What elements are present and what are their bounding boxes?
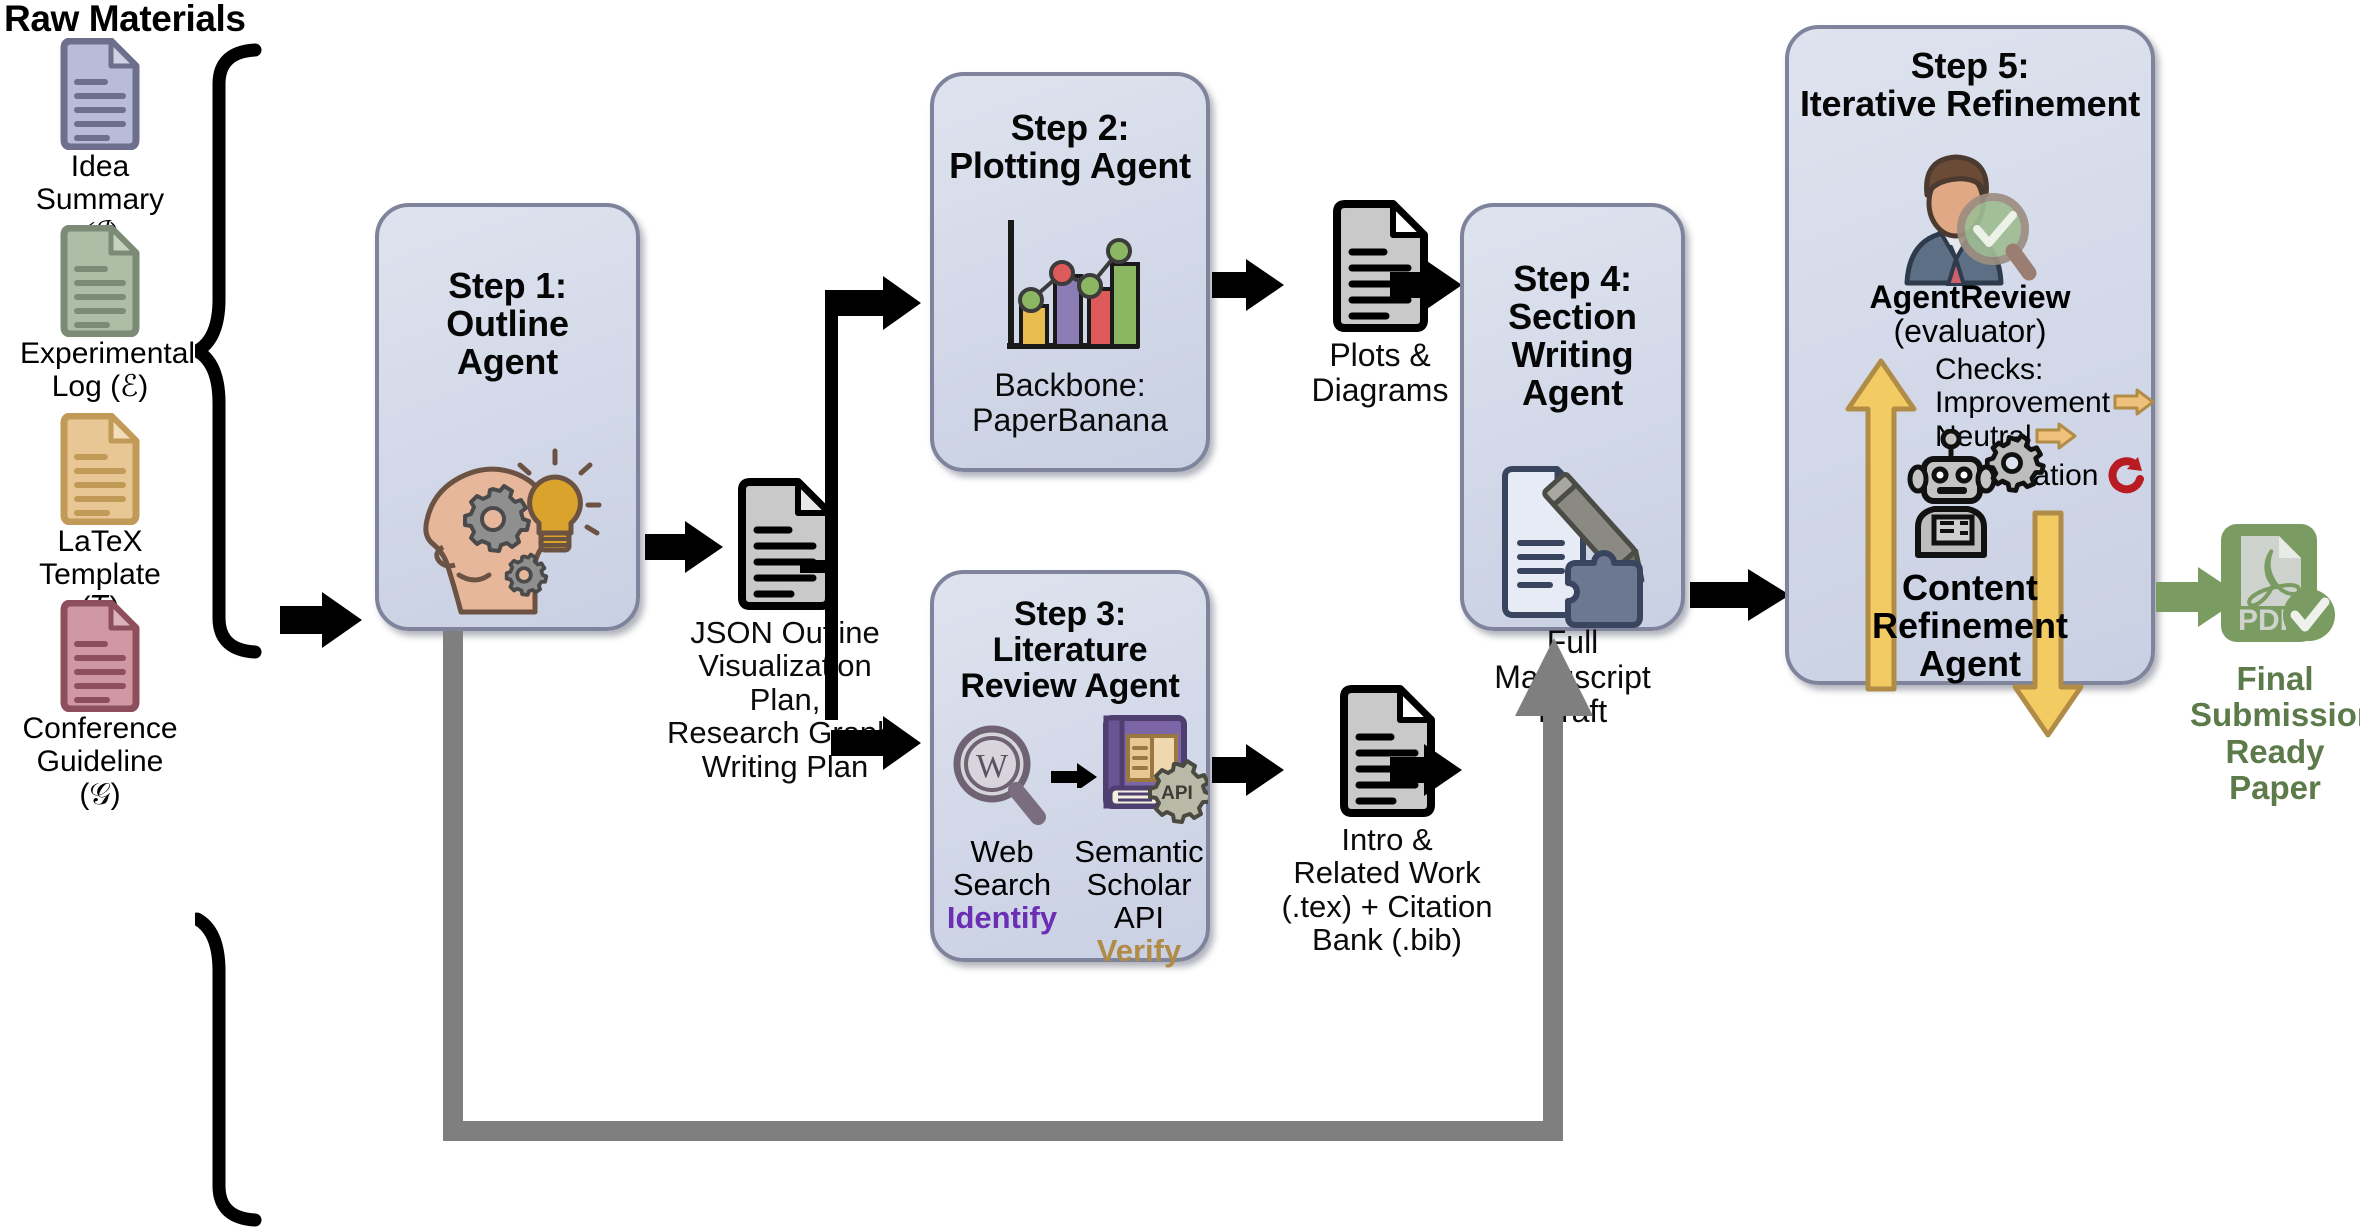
bar-line-chart-icon xyxy=(999,216,1149,366)
arrow-right-yellow-icon xyxy=(2113,388,2155,416)
step3-left-caption: Web Search Identify xyxy=(938,836,1066,935)
checks-heading: Checks: xyxy=(1935,354,2043,385)
raw-material-item: Conference Guideline (𝒢) xyxy=(20,600,180,811)
diagram-canvas: Raw Materials Idea Summary (ℐ) xyxy=(0,0,2360,1228)
raw-materials-heading: Raw Materials xyxy=(4,0,246,40)
feedback-loop-arrowhead xyxy=(1513,636,1595,722)
feedback-loop-vertical-left xyxy=(443,631,463,1141)
feedback-loop-vertical-right xyxy=(1543,707,1563,1141)
person-with-magnifier-check-icon xyxy=(1877,151,2037,291)
arrow-plots-to-step4 xyxy=(1390,250,1470,320)
step3-right-caption: Semantic Scholar API Verify xyxy=(1064,836,1214,967)
step5-title: Step 5: Iterative Refinement xyxy=(1789,47,2151,123)
step5-iterative-refinement-box[interactable]: Step 5: Iterative Refinement AgentReview… xyxy=(1785,25,2155,685)
identify-tag: Identify xyxy=(947,900,1057,935)
arrow-step4-to-step5 xyxy=(1690,560,1795,630)
step5-refiner-label: Content Refinement Agent xyxy=(1789,569,2151,682)
arrow-brace-to-step1 xyxy=(280,580,375,660)
document-icon xyxy=(57,225,143,337)
step3-title: Step 3: Literature Review Agent xyxy=(934,596,1206,704)
step4-title: Step 4: Section Writing Agent xyxy=(1464,260,1681,413)
verify-tag: Verify xyxy=(1097,933,1181,968)
raw-material-label: Conference Guideline (𝒢) xyxy=(20,712,180,811)
check-item-improvement: Improvement xyxy=(1935,387,2155,418)
raw-material-label: Experimental Log (ℰ) xyxy=(20,337,180,403)
head-with-gears-and-lightbulb-icon xyxy=(421,447,606,622)
pdf-check-icon: PDF xyxy=(2215,520,2335,655)
intro-related-work-caption: Intro & Related Work (.tex) + Citation B… xyxy=(1272,823,1502,957)
arrow-search-to-api xyxy=(1051,762,1099,788)
raw-material-item: Idea Summary (ℐ) xyxy=(20,38,180,250)
curly-brace xyxy=(195,40,285,1230)
robot-gear-icon xyxy=(1904,429,2046,564)
step1-outline-agent-box[interactable]: Step 1: Outline Agent xyxy=(375,203,640,631)
raw-material-item: Experimental Log (ℰ) xyxy=(20,225,180,403)
branch-connector-json-to-steps xyxy=(800,270,940,770)
step1-title: Step 1: Outline Agent xyxy=(379,267,636,381)
document-pencil-puzzle-icon xyxy=(1490,455,1655,635)
svg-text:W: W xyxy=(976,748,1009,785)
document-icon xyxy=(57,38,143,150)
document-icon xyxy=(57,413,143,525)
final-output-artifact: PDF Final Submission- Ready Paper xyxy=(2190,520,2360,806)
raw-material-item: LaTeX Template (𝑇) xyxy=(20,413,180,624)
step2-caption: Backbone: PaperBanana xyxy=(934,368,1206,437)
book-api-icon: API xyxy=(1098,714,1208,834)
step3-literature-review-agent-box[interactable]: Step 3: Literature Review Agent W xyxy=(930,570,1210,962)
arrow-intro-to-step4 xyxy=(1390,735,1470,805)
loop-back-red-icon xyxy=(2104,455,2148,495)
step5-reviewer-label: AgentReview (evaluator) xyxy=(1789,281,2151,348)
step2-title: Step 2: Plotting Agent xyxy=(934,109,1206,185)
api-badge-text: API xyxy=(1161,783,1193,804)
feedback-loop-horizontal xyxy=(443,1121,1563,1141)
step2-plotting-agent-box[interactable]: Step 2: Plotting Agent Backbone: PaperBa… xyxy=(930,72,1210,472)
document-icon xyxy=(57,600,143,712)
magnifier-web-search-icon: W xyxy=(948,722,1048,837)
plots-diagrams-caption: Plots & Diagrams xyxy=(1280,338,1480,407)
final-output-label: Final Submission- Ready Paper xyxy=(2190,661,2360,806)
